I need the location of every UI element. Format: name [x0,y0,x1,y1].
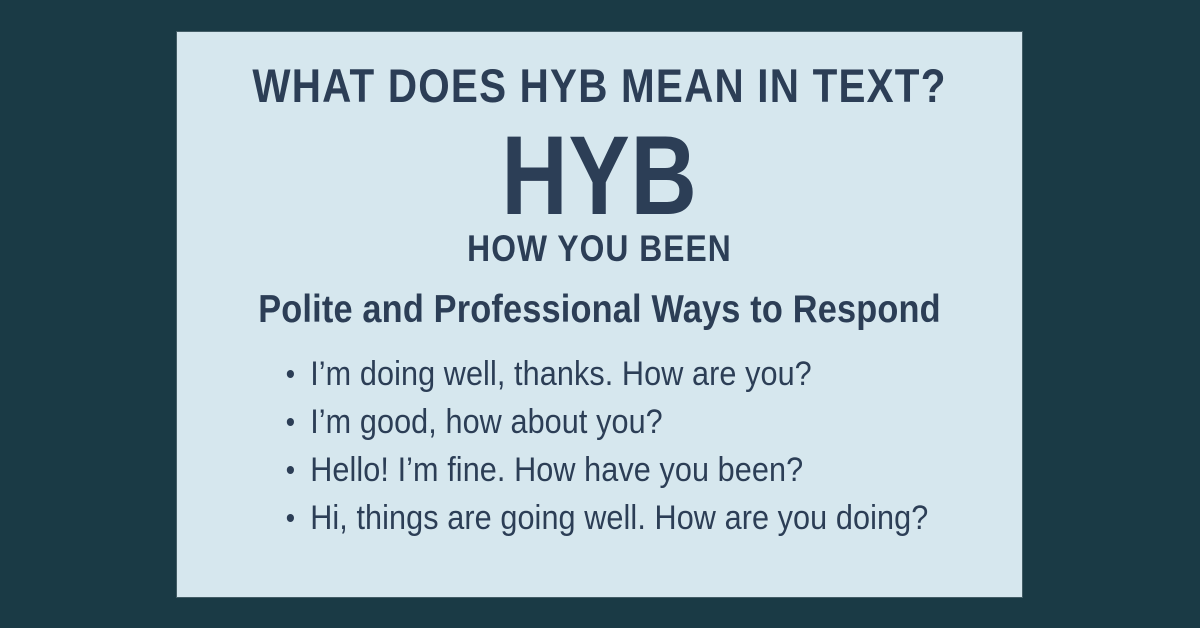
list-item-label: Hello! I’m fine. How have you been? [310,451,803,489]
bullet-icon [287,370,294,378]
list-item: I’m good, how about you? [285,398,915,446]
list-item: I’m doing well, thanks. How are you? [285,350,915,398]
acronym-hyb: HYB [253,120,946,232]
bullet-icon [287,466,294,474]
bullet-icon [287,514,294,522]
response-list: I’m doing well, thanks. How are you? I’m… [285,350,985,542]
list-item: Hi, things are going well. How are you d… [285,494,915,542]
section-subtitle: Polite and Professional Ways to Respond [228,290,972,329]
info-card: WHAT DOES HYB MEAN IN TEXT? HYB HOW YOU … [177,32,1022,597]
poster-canvas: WHAT DOES HYB MEAN IN TEXT? HYB HOW YOU … [0,0,1200,628]
list-item-label: I’m good, how about you? [310,403,663,441]
page-title: WHAT DOES HYB MEAN IN TEXT? [236,62,963,109]
list-item: Hello! I’m fine. How have you been? [285,446,915,494]
acronym-expansion: HOW YOU BEEN [236,230,963,267]
bullet-icon [287,418,294,426]
list-item-label: Hi, things are going well. How are you d… [310,499,928,537]
list-item-label: I’m doing well, thanks. How are you? [310,355,812,393]
